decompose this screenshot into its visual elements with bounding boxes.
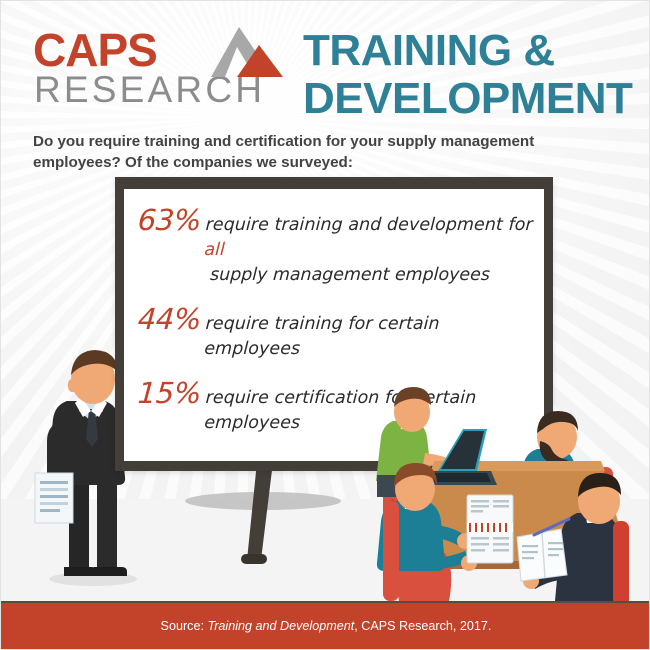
spiral-notebook: [467, 495, 513, 563]
source-title: Training and Development: [207, 619, 354, 633]
source-prefix: Source:: [161, 619, 208, 633]
meeting-group: [1, 1, 650, 650]
infographic-canvas: CAPS RESEARCH TRAINING & DEVELOPMENT Do …: [0, 0, 650, 650]
footer-bar: Source: Training and Development, CAPS R…: [1, 601, 650, 650]
source-attribution: Source: Training and Development, CAPS R…: [1, 619, 650, 633]
source-suffix: , CAPS Research, 2017.: [354, 619, 491, 633]
